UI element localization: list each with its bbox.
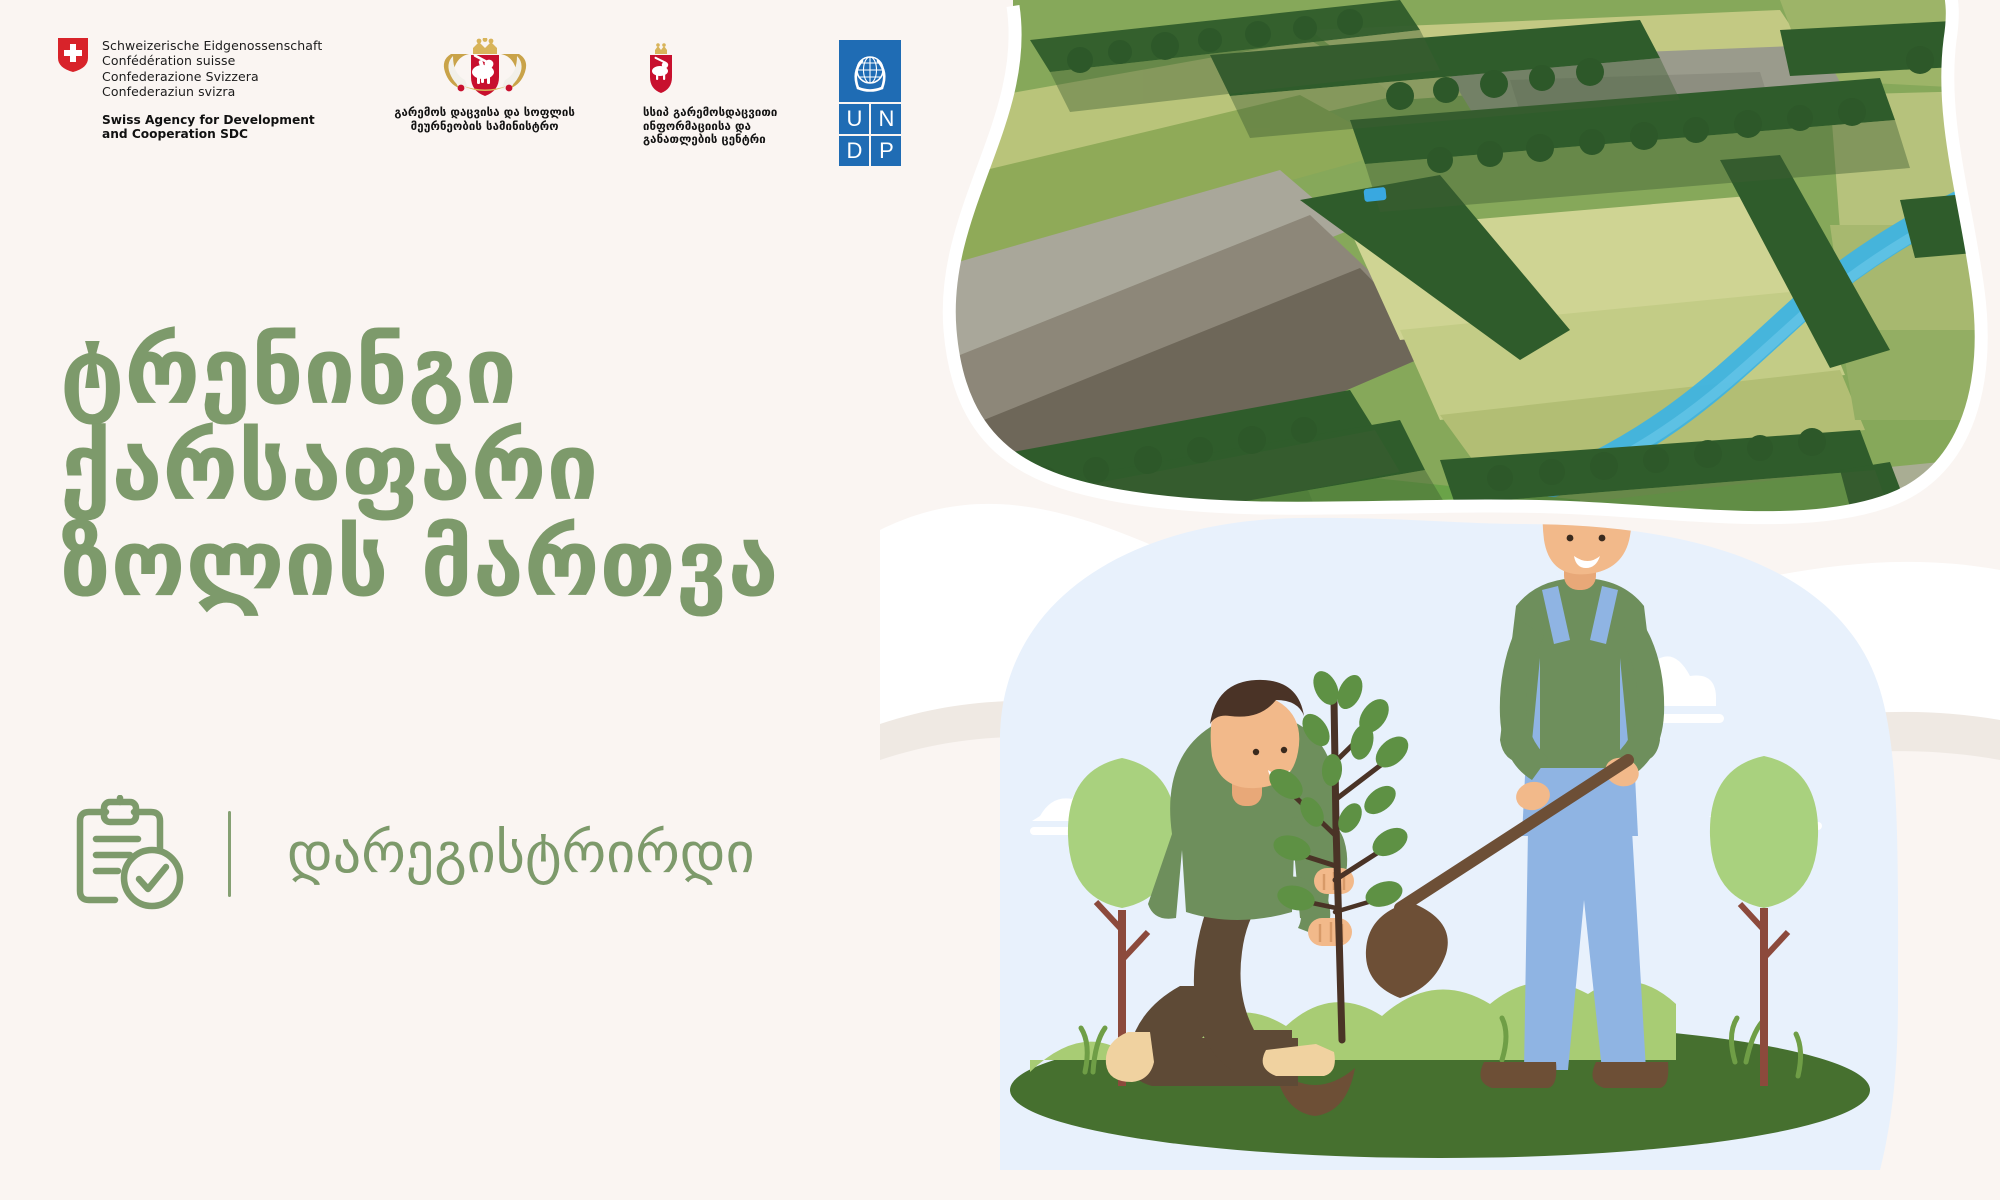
swiss-name-rm: Confederaziun svizra [102,84,322,99]
tree-planting-illustration [1000,471,1898,1170]
georgia-coat-of-arms-icon [437,38,533,100]
title-line-1: ტრენინგი [60,324,960,420]
undp-letter-d: D [839,136,869,166]
undp-letter-n: N [871,104,901,134]
un-emblem-icon [839,40,901,102]
ministry-name-line-2: მეურნეობის სამინისტრო [394,120,575,134]
swiss-name-fr: Confédération suisse [102,53,322,68]
swiss-confederation-logo: Schweizerische Eidgenossenschaft Confédé… [58,38,322,142]
ministry-logo: გარემოს დაცვისა და სოფლის მეურნეობის სამ… [394,38,575,133]
ministry-name: გარემოს დაცვისა და სოფლის მეურნეობის სამ… [394,106,575,133]
center-name-line-2: ინფორმაციისა და [643,120,777,134]
swiss-agency-line-2: and Cooperation SDC [102,127,322,142]
education-center-name: სსიპ გარემოსდაცვითი ინფორმაციისა და განა… [643,106,777,147]
georgia-coat-of-arms-small-icon [643,38,679,100]
undp-letter-p: P [871,136,901,166]
title-line-3: ზოლის მართვა [60,516,960,612]
swiss-name-it: Confederazione Svizzera [102,69,322,84]
logo-strip: Schweizerische Eidgenossenschaft Confédé… [58,38,901,166]
page-title: ტრენინგი ქარსაფარი ზოლის მართვა [60,324,960,612]
swiss-names: Schweizerische Eidgenossenschaft Confédé… [102,38,322,100]
poster-canvas: Schweizerische Eidgenossenschaft Confédé… [0,0,2000,1200]
title-line-2: ქარსაფარი [60,420,960,516]
swiss-agency-name: Swiss Agency for Development and Coopera… [102,113,322,142]
undp-logo: U N D P [839,40,901,166]
center-name-line-1: სსიპ გარემოსდაცვითი [643,106,777,120]
clipboard-check-icon [68,795,190,913]
swiss-agency-line-1: Swiss Agency for Development [102,113,322,128]
swiss-name-de: Schweizerische Eidgenossenschaft [102,38,322,53]
cta-divider [228,811,231,897]
artwork-panel [880,0,2000,1200]
center-name-line-3: განათლების ცენტრი [643,133,777,147]
ministry-name-line-1: გარემოს დაცვისა და სოფლის [394,106,575,120]
register-label: დარეგისტრირდი [287,823,755,885]
register-cta[interactable]: დარეგისტრირდი [68,795,755,913]
undp-letter-u: U [839,104,869,134]
education-center-logo: სსიპ გარემოსდაცვითი ინფორმაციისა და განა… [643,38,777,147]
swiss-shield-icon [58,38,88,72]
